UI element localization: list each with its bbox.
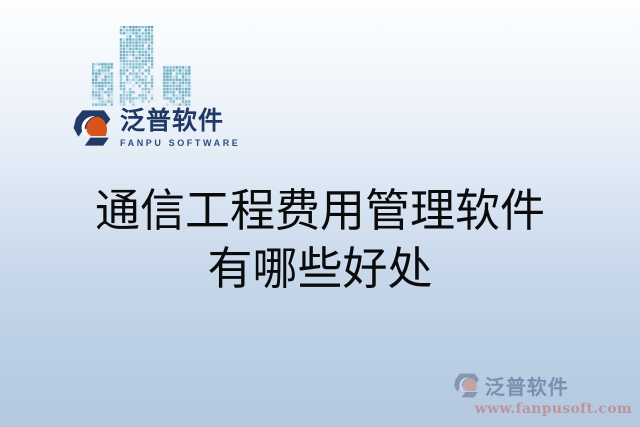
page-title-line-2: 有哪些好处: [0, 240, 640, 298]
watermark-url: www.fanpusoft.com: [475, 401, 632, 417]
pixel-cityscape-graphic: [92, 26, 196, 106]
brand-logo: 泛普软件 FANPU SOFTWARE: [72, 108, 240, 148]
watermark: 泛普软件 www.fanpusoft.com: [453, 371, 632, 417]
page-title-line-1: 通信工程费用管理软件: [0, 182, 640, 240]
brand-wordmark: 泛普软件 FANPU SOFTWARE: [120, 108, 240, 147]
fanpu-watermark-mark: [453, 372, 480, 399]
watermark-row: 泛普软件: [453, 371, 569, 400]
page-title: 通信工程费用管理软件 有哪些好处: [0, 182, 640, 297]
fanpu-logo-mark: [72, 108, 112, 148]
brand-name-cn: 泛普软件: [120, 108, 240, 134]
pixel-cityscape-canvas: [92, 26, 196, 106]
brand-name-en: FANPU SOFTWARE: [120, 138, 240, 148]
promo-banner: 泛普软件 FANPU SOFTWARE 通信工程费用管理软件 有哪些好处 泛普软…: [0, 0, 640, 427]
watermark-name-cn: 泛普软件: [485, 371, 569, 400]
